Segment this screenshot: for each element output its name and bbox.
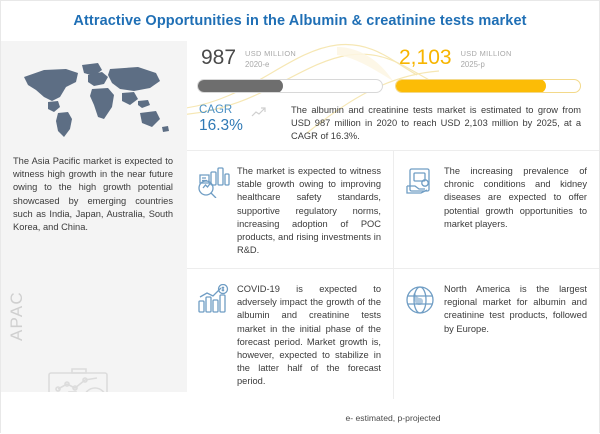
insight-card-market-growth: The market is expected to witness stable… <box>187 151 393 268</box>
infographic-page: Attractive Opportunities in the Albumin … <box>0 0 600 433</box>
base-year-meta: USD MILLION 2020-e <box>245 47 296 70</box>
base-year-progress-fill <box>197 79 283 93</box>
cagr-value: 16.3% <box>199 117 291 135</box>
insight-cards-row-2: COVID-19 is expected to adversely impact… <box>187 268 599 399</box>
page-title: Attractive Opportunities in the Albumin … <box>73 13 526 29</box>
globe-icon <box>404 283 444 321</box>
base-year-metric: 987 USD MILLION 2020-e <box>195 47 393 70</box>
forecast-year-unit: USD MILLION <box>461 49 512 59</box>
base-year-unit: USD MILLION <box>245 49 296 59</box>
body-row: The Asia Pacific market is expected to w… <box>1 41 599 434</box>
progress-bars-row <box>195 79 591 93</box>
world-map-icon <box>14 57 174 141</box>
market-summary-text: The albumin and creatinine tests market … <box>291 103 591 143</box>
chart-magnifier-icon <box>197 165 237 203</box>
forecast-year-progress-track <box>395 79 581 93</box>
forecast-year-metric: 2,103 USD MILLION 2025-p <box>393 47 591 70</box>
left-panel-footer-spacer <box>1 392 187 434</box>
insight-card-market-growth-text: The market is expected to witness stable… <box>237 165 381 257</box>
title-bar: Attractive Opportunities in the Albumin … <box>1 1 599 41</box>
footer: e- estimated, p-projected <box>187 404 599 432</box>
insight-card-chronic-conditions: The increasing prevalence of chronic con… <box>393 151 599 268</box>
base-year-label: 2020-e <box>245 59 296 70</box>
forecast-year-value: 2,103 <box>399 47 452 69</box>
insight-card-north-america-text: North America is the largest regional ma… <box>444 283 587 336</box>
base-year-value: 987 <box>201 47 236 69</box>
forecast-year-label: 2025-p <box>461 59 512 70</box>
hero-metrics: 987 USD MILLION 2020-e 2,103 USD MILLION… <box>187 41 599 144</box>
world-map-container <box>1 41 187 149</box>
base-year-progress-track <box>197 79 383 93</box>
left-panel-description: The Asia Pacific market is expected to w… <box>1 149 187 234</box>
cagr-block: CAGR 16.3% <box>199 103 291 143</box>
forecast-year-meta: USD MILLION 2025-p <box>461 47 512 70</box>
document-hand-icon <box>404 165 444 203</box>
bar-chart-dollar-icon <box>197 283 237 321</box>
base-year-bar-cell <box>195 79 393 93</box>
region-label-apac: APAC <box>7 291 27 341</box>
insight-card-chronic-conditions-text: The increasing prevalence of chronic con… <box>444 165 587 231</box>
insight-cards: The market is expected to witness stable… <box>187 150 599 399</box>
left-panel: The Asia Pacific market is expected to w… <box>1 41 187 434</box>
forecast-year-bar-cell <box>393 79 591 93</box>
forecast-year-progress-fill <box>395 79 546 93</box>
growth-arrow-icon <box>251 105 267 123</box>
footer-note: e- estimated, p-projected <box>345 413 440 423</box>
insight-card-covid-impact-text: COVID-19 is expected to adversely impact… <box>237 283 381 389</box>
insight-cards-row-1: The market is expected to witness stable… <box>187 151 599 268</box>
hero-values-row: 987 USD MILLION 2020-e 2,103 USD MILLION… <box>195 47 591 70</box>
right-panel: 987 USD MILLION 2020-e 2,103 USD MILLION… <box>187 41 599 434</box>
insight-card-north-america: North America is the largest regional ma… <box>393 269 599 399</box>
insight-card-covid-impact: COVID-19 is expected to adversely impact… <box>187 269 393 399</box>
cagr-row: CAGR 16.3% The albumin and creatinine t <box>195 103 591 143</box>
cagr-label: CAGR <box>199 103 291 117</box>
